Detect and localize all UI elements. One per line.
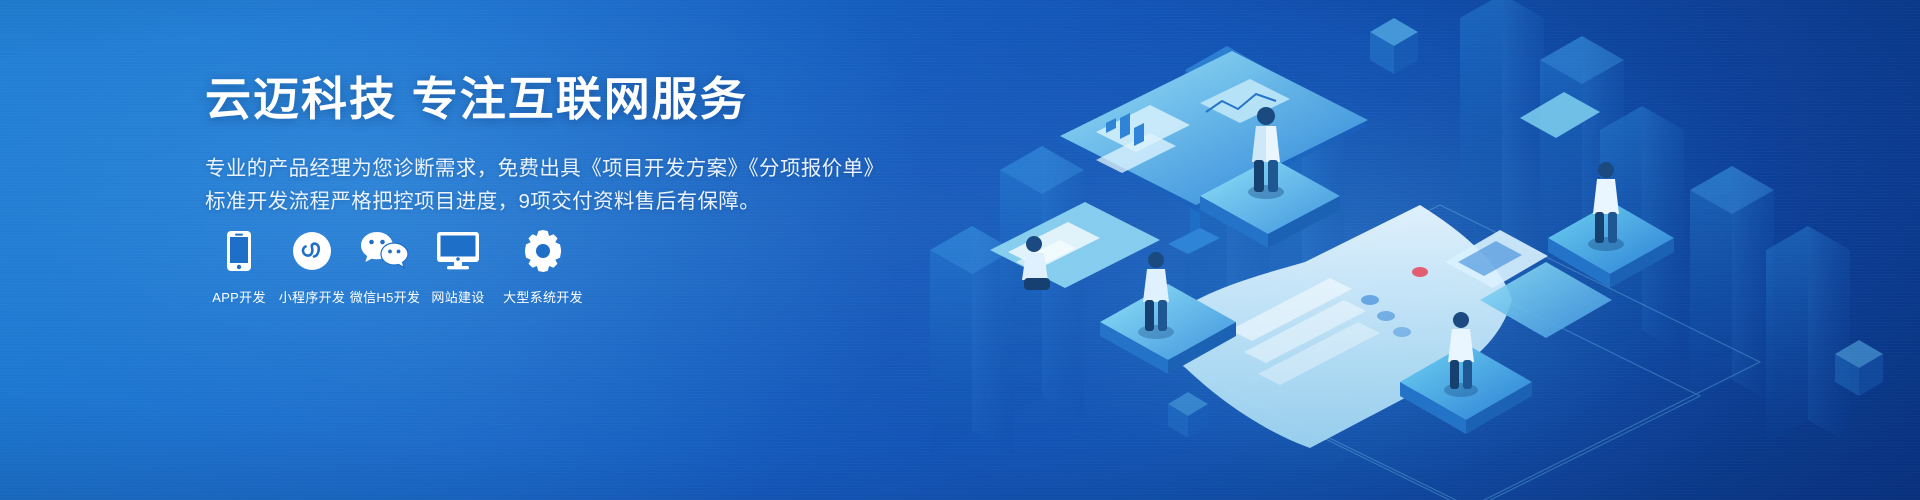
subtitle-line-2: 标准开发流程严格把控项目进度，9项交付资料售后有保障。 <box>205 185 965 218</box>
service-list: APP开发 小程序开发 微信 <box>203 228 592 306</box>
service-item-mini-program[interactable]: 小程序开发 <box>276 228 348 306</box>
floating-cubes <box>1168 18 1883 438</box>
mobile-phone-icon <box>226 228 252 274</box>
isometric-floor-grid <box>1150 205 1760 500</box>
wechat-icon <box>360 228 410 274</box>
service-label: APP开发 <box>212 287 266 306</box>
service-item-wechat-h5[interactable]: 微信H5开发 <box>349 228 421 306</box>
isometric-platforms <box>1100 158 1674 434</box>
page-title: 云迈科技 专注互联网服务 <box>205 72 965 126</box>
mini-program-icon <box>292 228 332 274</box>
banner-text-block: 云迈科技 专注互联网服务 专业的产品经理为您诊断需求，免费出具《项目开发方案》《… <box>205 72 965 219</box>
service-item-large-system[interactable]: 大型系统开发 <box>495 228 591 306</box>
service-label: 大型系统开发 <box>503 287 583 306</box>
floating-tablet-panel <box>1445 92 1600 288</box>
background-skyline-bars <box>930 0 1850 454</box>
service-label: 小程序开发 <box>279 287 346 306</box>
service-label: 网站建设 <box>431 287 484 306</box>
service-label: 微信H5开发 <box>350 287 420 306</box>
data-chart-panel <box>990 202 1160 288</box>
standing-figures <box>1022 107 1624 397</box>
service-item-app[interactable]: APP开发 <box>203 228 275 306</box>
dashboard-screen <box>1055 51 1370 254</box>
subtitle-line-1: 专业的产品经理为您诊断需求，免费出具《项目开发方案》《分项报价单》 <box>205 152 965 185</box>
flowing-data-ribbon <box>1150 205 1512 448</box>
gear-icon <box>522 228 564 274</box>
monitor-icon <box>436 228 480 274</box>
service-item-website[interactable]: 网站建设 <box>422 228 494 306</box>
background-glow-right <box>900 10 1800 500</box>
hero-banner: 云迈科技 专注互联网服务 专业的产品经理为您诊断需求，免费出具《项目开发方案》《… <box>0 0 1920 500</box>
hero-illustration <box>900 0 1920 500</box>
